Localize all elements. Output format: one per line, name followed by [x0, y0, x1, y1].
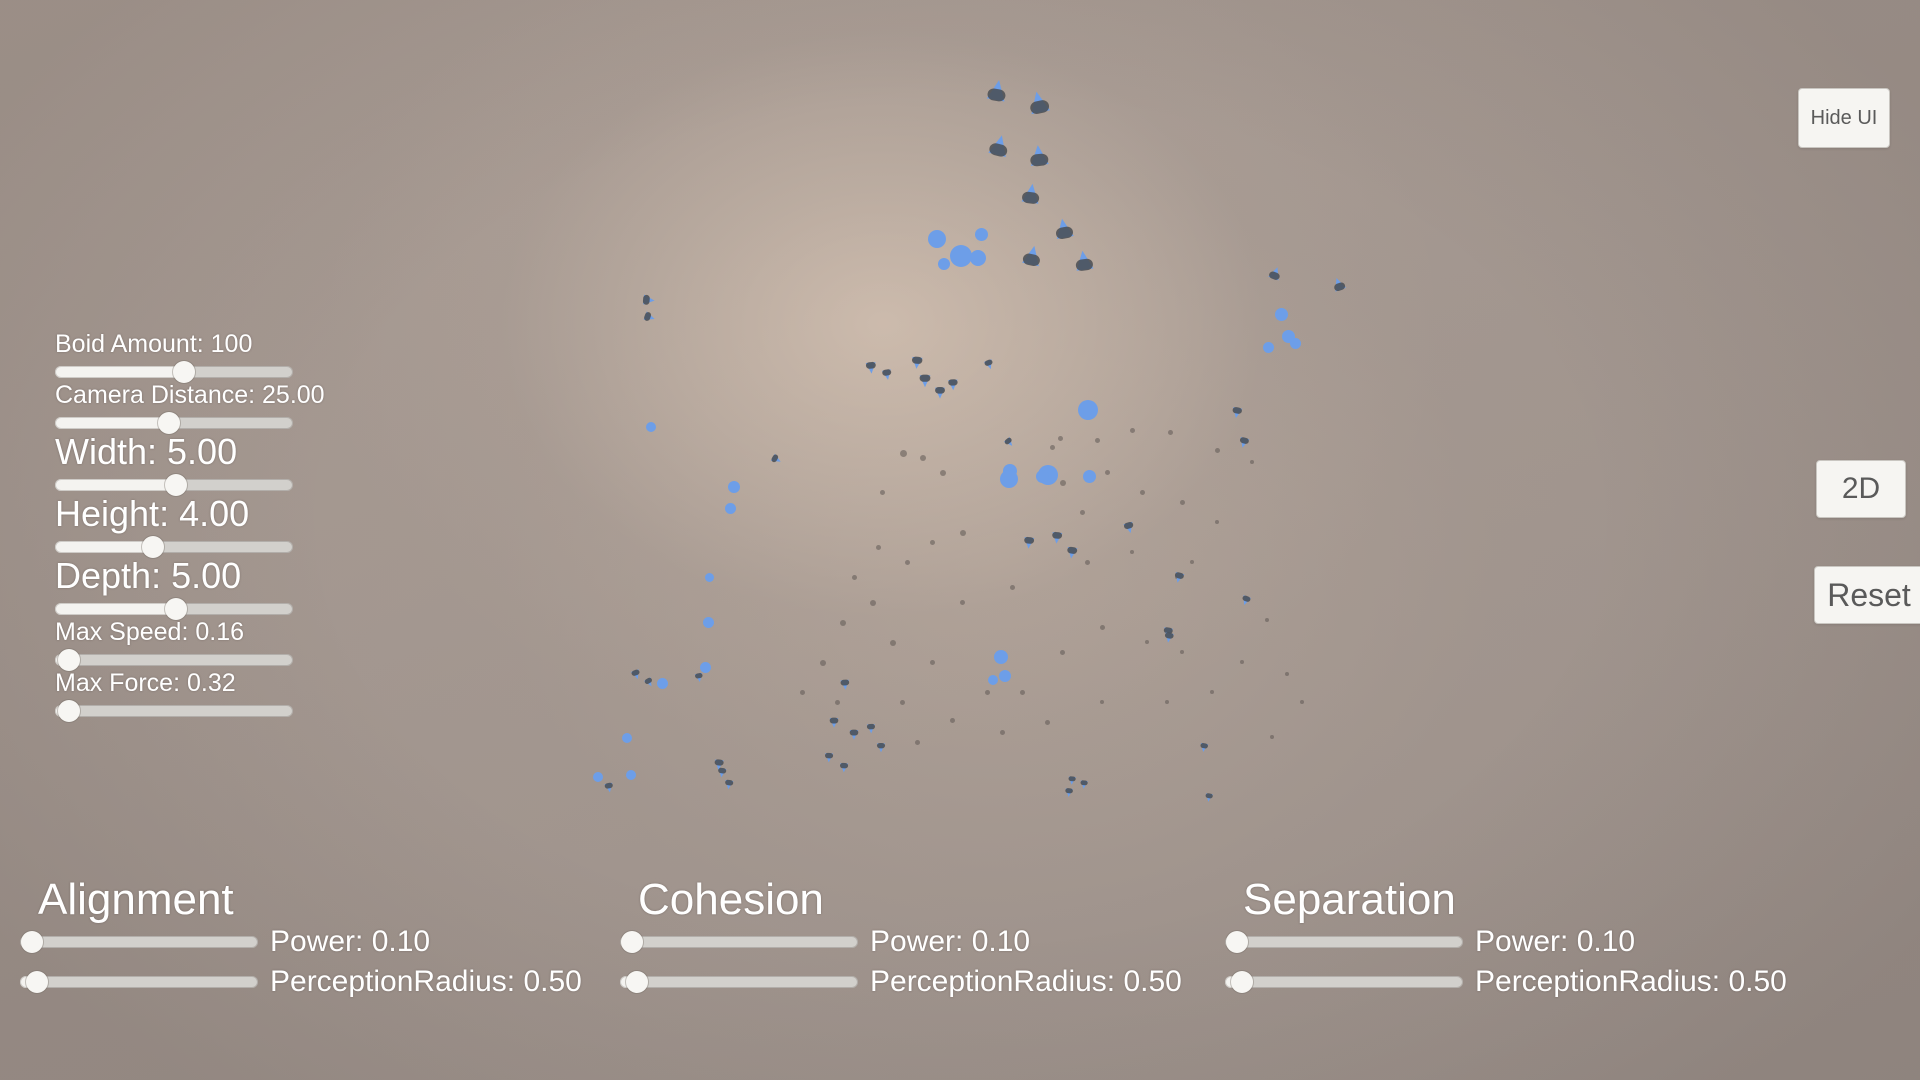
- boid-distant: [1140, 490, 1145, 495]
- boid-cone: [714, 760, 724, 771]
- boid-distant: [1168, 430, 1173, 435]
- max-speed-label: Max Speed: 0.16: [55, 620, 325, 645]
- width-label: Width: 5.00: [55, 434, 325, 470]
- boid-distant: [1175, 575, 1179, 579]
- boid-distant: [1190, 560, 1194, 564]
- boid-distant: [1210, 690, 1214, 694]
- boid-cone: [911, 357, 922, 369]
- boid-distant: [1145, 640, 1149, 644]
- boid-cone: [1231, 407, 1242, 419]
- boid-head-on: [657, 678, 668, 689]
- boid-distant: [1010, 585, 1015, 590]
- max-speed-slider[interactable]: [55, 649, 293, 671]
- boid-distant: [1130, 428, 1135, 433]
- boid-cone: [643, 295, 655, 306]
- boid-cone: [604, 783, 614, 793]
- boid-head-on: [999, 670, 1011, 682]
- boid-head-on: [938, 258, 950, 270]
- boid-cone: [825, 753, 833, 762]
- boid-distant: [1000, 730, 1005, 735]
- boid-distant: [1300, 700, 1304, 704]
- boid-distant: [960, 600, 965, 605]
- boid-cone: [877, 743, 885, 752]
- boid-cone: [840, 680, 849, 690]
- boid-cone: [866, 362, 877, 374]
- boid-distant: [985, 690, 990, 695]
- boid-distant: [1285, 672, 1289, 676]
- behavior-panel-separation: SeparationPower: 0.10PerceptionRadius: 0…: [1225, 878, 1825, 1002]
- boid-cone: [1080, 780, 1088, 789]
- alignment-perception-radius-label: PerceptionRadius: 0.50: [270, 965, 582, 999]
- boid-distant: [1165, 700, 1169, 704]
- slider-track[interactable]: [55, 654, 293, 666]
- separation-power-slider[interactable]: [1225, 931, 1463, 953]
- boid-head-on: [988, 675, 998, 685]
- boid-distant: [1250, 460, 1254, 464]
- slider-handle[interactable]: [165, 598, 187, 620]
- cohesion-perception-radius-slider[interactable]: [620, 971, 858, 993]
- boid-distant: [930, 540, 935, 545]
- cohesion-perception-radius-label: PerceptionRadius: 0.50: [870, 965, 1182, 999]
- boid-cone: [987, 79, 1008, 102]
- behavior-panel-alignment: AlignmentPower: 0.10PerceptionRadius: 0.…: [20, 878, 620, 1002]
- slider-handle[interactable]: [626, 971, 648, 993]
- boid-head-on: [928, 230, 946, 248]
- boid-cone: [1068, 776, 1076, 785]
- boid-cone: [644, 311, 656, 323]
- behavior-title-alignment: Alignment: [38, 878, 620, 922]
- boid-head-on: [950, 245, 972, 267]
- depth-label: Depth: 5.00: [55, 558, 325, 594]
- boid-distant: [1058, 436, 1063, 441]
- boid-distant: [1265, 618, 1269, 622]
- slider-track[interactable]: [1225, 976, 1463, 988]
- boid-head-on: [1275, 308, 1288, 321]
- boid-distant: [1100, 700, 1104, 704]
- boid-cone: [1021, 183, 1041, 204]
- boid-distant: [940, 470, 946, 476]
- boid-distant: [840, 620, 846, 626]
- boid-cone: [644, 677, 655, 688]
- boid-cone: [1164, 632, 1174, 643]
- boid-amount-label: Boid Amount: 100: [55, 332, 325, 357]
- alignment-power-slider[interactable]: [20, 931, 258, 953]
- boid-cone: [840, 763, 848, 772]
- boid-head-on: [703, 617, 714, 628]
- boid-distant: [1180, 650, 1184, 654]
- slider-fill: [55, 366, 184, 378]
- slider-track[interactable]: [20, 936, 258, 948]
- boid-head-on: [1038, 465, 1058, 485]
- boid-cone: [631, 669, 642, 680]
- max-force-slider[interactable]: [55, 700, 293, 722]
- boid-distant: [1215, 448, 1220, 453]
- boid-head-on: [1078, 400, 1098, 420]
- boid-head-on: [1083, 470, 1096, 483]
- boid-cone: [935, 388, 945, 399]
- separation-perception-radius-row: PerceptionRadius: 0.50: [1225, 962, 1825, 1002]
- control-row-depth: Depth: 5.00: [55, 558, 325, 620]
- boid-distant: [870, 600, 876, 606]
- boid-distant: [1080, 510, 1085, 515]
- boid-head-on: [975, 228, 988, 241]
- slider-track[interactable]: [20, 976, 258, 988]
- alignment-perception-radius-slider[interactable]: [20, 971, 258, 993]
- boid-distant: [905, 560, 910, 565]
- boid-amount-slider[interactable]: [55, 361, 293, 383]
- cohesion-perception-radius-row: PerceptionRadius: 0.50: [620, 962, 1220, 1002]
- boid-cone: [1054, 217, 1074, 239]
- boid-cone: [771, 454, 783, 466]
- separation-power-label: Power: 0.10: [1475, 925, 1635, 959]
- boid-head-on: [1000, 470, 1018, 488]
- app-root: Hide UI 2D Reset Boid Amount: 100Camera …: [0, 0, 1920, 1080]
- slider-handle[interactable]: [1226, 931, 1248, 953]
- boid-cone: [695, 673, 704, 683]
- boid-distant: [1060, 480, 1066, 486]
- boid-distant: [1105, 470, 1110, 475]
- boid-head-on: [705, 573, 714, 582]
- boid-distant: [1130, 550, 1134, 554]
- slider-handle[interactable]: [621, 931, 643, 953]
- boid-distant: [876, 545, 881, 550]
- behavior-title-cohesion: Cohesion: [638, 878, 1220, 922]
- behavior-title-separation: Separation: [1243, 878, 1825, 922]
- boid-cone: [1199, 743, 1208, 753]
- boid-head-on: [1036, 470, 1049, 483]
- dimension-toggle-button[interactable]: 2D: [1816, 460, 1906, 518]
- boid-cone: [867, 724, 875, 733]
- boid-cone: [1004, 437, 1015, 448]
- boid-head-on: [593, 772, 603, 782]
- boid-head-on: [1282, 330, 1295, 343]
- boid-distant: [960, 530, 966, 536]
- boid-distant: [950, 718, 955, 723]
- boid-distant: [930, 660, 935, 665]
- cohesion-power-label: Power: 0.10: [870, 925, 1030, 959]
- boid-head-on: [1263, 342, 1274, 353]
- slider-track[interactable]: [1225, 936, 1463, 948]
- control-row-boid-amount: Boid Amount: 100: [55, 332, 325, 383]
- boid-distant: [915, 740, 920, 745]
- boid-cone: [1022, 244, 1043, 266]
- boid-head-on: [622, 733, 632, 743]
- boid-distant: [835, 700, 840, 705]
- boid-cone: [1268, 265, 1282, 280]
- boid-head-on: [646, 422, 656, 432]
- boid-distant: [1050, 445, 1055, 450]
- behavior-panel-cohesion: CohesionPower: 0.10PerceptionRadius: 0.5…: [620, 878, 1220, 1002]
- boid-distant: [880, 490, 885, 495]
- slider-track[interactable]: [55, 705, 293, 717]
- boid-distant: [890, 640, 896, 646]
- cohesion-power-row: Power: 0.10: [620, 922, 1220, 962]
- slider-fill: [55, 603, 176, 615]
- boid-cone: [882, 369, 893, 380]
- boid-cone: [1027, 90, 1050, 114]
- boid-distant: [1085, 560, 1090, 565]
- slider-track[interactable]: [620, 936, 858, 948]
- boid-cone: [1051, 532, 1062, 544]
- boid-head-on: [725, 503, 736, 514]
- boid-cone: [1029, 144, 1049, 166]
- boid-cone: [1074, 250, 1094, 271]
- slider-handle[interactable]: [173, 361, 195, 383]
- control-row-width: Width: 5.00: [55, 434, 325, 496]
- height-label: Height: 4.00: [55, 496, 325, 532]
- boid-cone: [1240, 595, 1251, 606]
- reset-button[interactable]: Reset: [1814, 566, 1920, 624]
- boid-head-on: [728, 481, 740, 493]
- control-row-height: Height: 4.00: [55, 496, 325, 558]
- control-row-max-speed: Max Speed: 0.16: [55, 620, 325, 671]
- boid-cone: [1331, 276, 1346, 291]
- boid-head-on: [626, 770, 636, 780]
- boid-distant: [1240, 660, 1244, 664]
- behavior-panels: AlignmentPower: 0.10PerceptionRadius: 0.…: [0, 878, 1920, 1078]
- slider-handle[interactable]: [1231, 971, 1253, 993]
- boid-cone: [830, 718, 839, 728]
- boid-head-on: [1003, 464, 1017, 478]
- boid-cone: [717, 768, 726, 778]
- boid-distant: [1180, 500, 1185, 505]
- separation-perception-radius-slider[interactable]: [1225, 971, 1463, 993]
- boid-cone: [984, 359, 995, 370]
- boid-cone: [724, 780, 733, 790]
- boid-distant: [920, 455, 926, 461]
- depth-slider[interactable]: [55, 598, 293, 620]
- alignment-power-label: Power: 0.10: [270, 925, 430, 959]
- boid-cone: [1238, 437, 1249, 449]
- boid-head-on: [970, 250, 986, 266]
- boid-cone: [988, 133, 1010, 157]
- boid-cone: [1023, 537, 1034, 549]
- boid-distant: [900, 700, 905, 705]
- slider-handle[interactable]: [26, 971, 48, 993]
- boid-cone: [1205, 793, 1213, 802]
- boid-head-on: [700, 662, 711, 673]
- slider-fill: [55, 417, 169, 429]
- left-control-panel: Boid Amount: 100Camera Distance: 25.00Wi…: [55, 332, 325, 722]
- separation-power-row: Power: 0.10: [1225, 922, 1825, 962]
- boid-distant: [1100, 625, 1105, 630]
- alignment-power-row: Power: 0.10: [20, 922, 620, 962]
- control-row-max-force: Max Force: 0.32: [55, 671, 325, 722]
- boid-distant: [900, 450, 907, 457]
- boid-distant: [1270, 735, 1274, 739]
- boid-cone: [948, 380, 958, 391]
- alignment-perception-radius-row: PerceptionRadius: 0.50: [20, 962, 620, 1002]
- boid-cone: [1173, 572, 1184, 584]
- hide-ui-button[interactable]: Hide UI: [1798, 88, 1890, 148]
- slider-track[interactable]: [620, 976, 858, 988]
- boid-distant: [1020, 690, 1025, 695]
- boid-distant: [852, 575, 857, 580]
- boid-distant: [820, 660, 826, 666]
- slider-fill: [55, 541, 153, 553]
- boid-cone: [1066, 547, 1077, 559]
- boid-distant: [1095, 438, 1100, 443]
- camera-distance-label: Camera Distance: 25.00: [55, 383, 325, 408]
- slider-handle[interactable]: [21, 931, 43, 953]
- boid-distant: [1045, 720, 1050, 725]
- boid-distant: [1215, 520, 1219, 524]
- control-row-camera-distance: Camera Distance: 25.00: [55, 383, 325, 434]
- boid-distant: [1060, 650, 1065, 655]
- slider-handle[interactable]: [58, 700, 80, 722]
- max-force-label: Max Force: 0.32: [55, 671, 325, 696]
- cohesion-power-slider[interactable]: [620, 931, 858, 953]
- slider-fill: [55, 479, 176, 491]
- boid-head-on: [1290, 338, 1301, 349]
- slider-handle[interactable]: [58, 649, 80, 671]
- boid-head-on: [994, 650, 1008, 664]
- boid-cone: [1123, 522, 1135, 534]
- boid-cone: [1065, 788, 1073, 797]
- boid-cone: [1163, 627, 1174, 638]
- boid-cone: [850, 730, 859, 740]
- boid-cone: [920, 375, 931, 387]
- boid-distant: [800, 690, 805, 695]
- separation-perception-radius-label: PerceptionRadius: 0.50: [1475, 965, 1787, 999]
